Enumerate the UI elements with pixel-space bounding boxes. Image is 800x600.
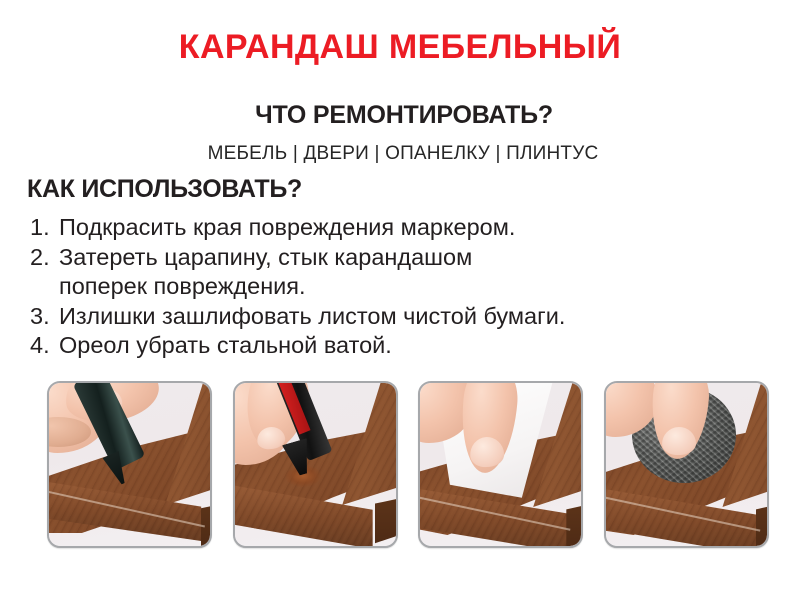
- instruction-step: 3. Излишки зашлифовать листом чистой бум…: [30, 302, 770, 332]
- step-photo-4: [604, 381, 769, 548]
- step-photo-2-scene: [235, 383, 396, 546]
- step-text: Ореол убрать стальной ватой.: [59, 331, 770, 361]
- instruction-step: 2. Затереть царапину, стык карандашом по…: [30, 243, 770, 302]
- step-photo-3-scene: [420, 383, 581, 546]
- step-number: 4.: [30, 331, 59, 361]
- step-number: 2.: [30, 243, 59, 273]
- step-text: Излишки зашлифовать листом чистой бумаги…: [59, 302, 770, 332]
- instruction-step: 1. Подкрасить края повреждения маркером.: [30, 213, 770, 243]
- repair-targets-list: МЕБЕЛЬ | ДВЕРИ | ОПАНЕЛКУ | ПЛИНТУС: [0, 143, 800, 165]
- how-to-use-heading: КАК ИСПОЛЬЗОВАТЬ?: [27, 175, 302, 204]
- step-photo-2: [233, 381, 398, 548]
- step-photo-strip: [47, 381, 769, 548]
- page-title: КАРАНДАШ МЕБЕЛЬНЫЙ: [0, 30, 800, 66]
- poster-page: КАРАНДАШ МЕБЕЛЬНЫЙ ЧТО РЕМОНТИРОВАТЬ? МЕ…: [0, 0, 800, 600]
- instruction-step: 4. Ореол убрать стальной ватой.: [30, 331, 770, 361]
- step-text: Затереть царапину, стык карандашом попер…: [59, 243, 770, 302]
- step-text: Подкрасить края повреждения маркером.: [59, 213, 770, 243]
- step-photo-3: [418, 381, 583, 548]
- step-photo-1: [47, 381, 212, 548]
- step-number: 3.: [30, 302, 59, 332]
- step-number: 1.: [30, 213, 59, 243]
- instruction-steps: 1. Подкрасить края повреждения маркером.…: [30, 213, 770, 361]
- step-photo-1-scene: [49, 383, 210, 546]
- what-to-repair-heading: ЧТО РЕМОНТИРОВАТЬ?: [0, 101, 800, 130]
- step-photo-4-scene: [606, 383, 767, 546]
